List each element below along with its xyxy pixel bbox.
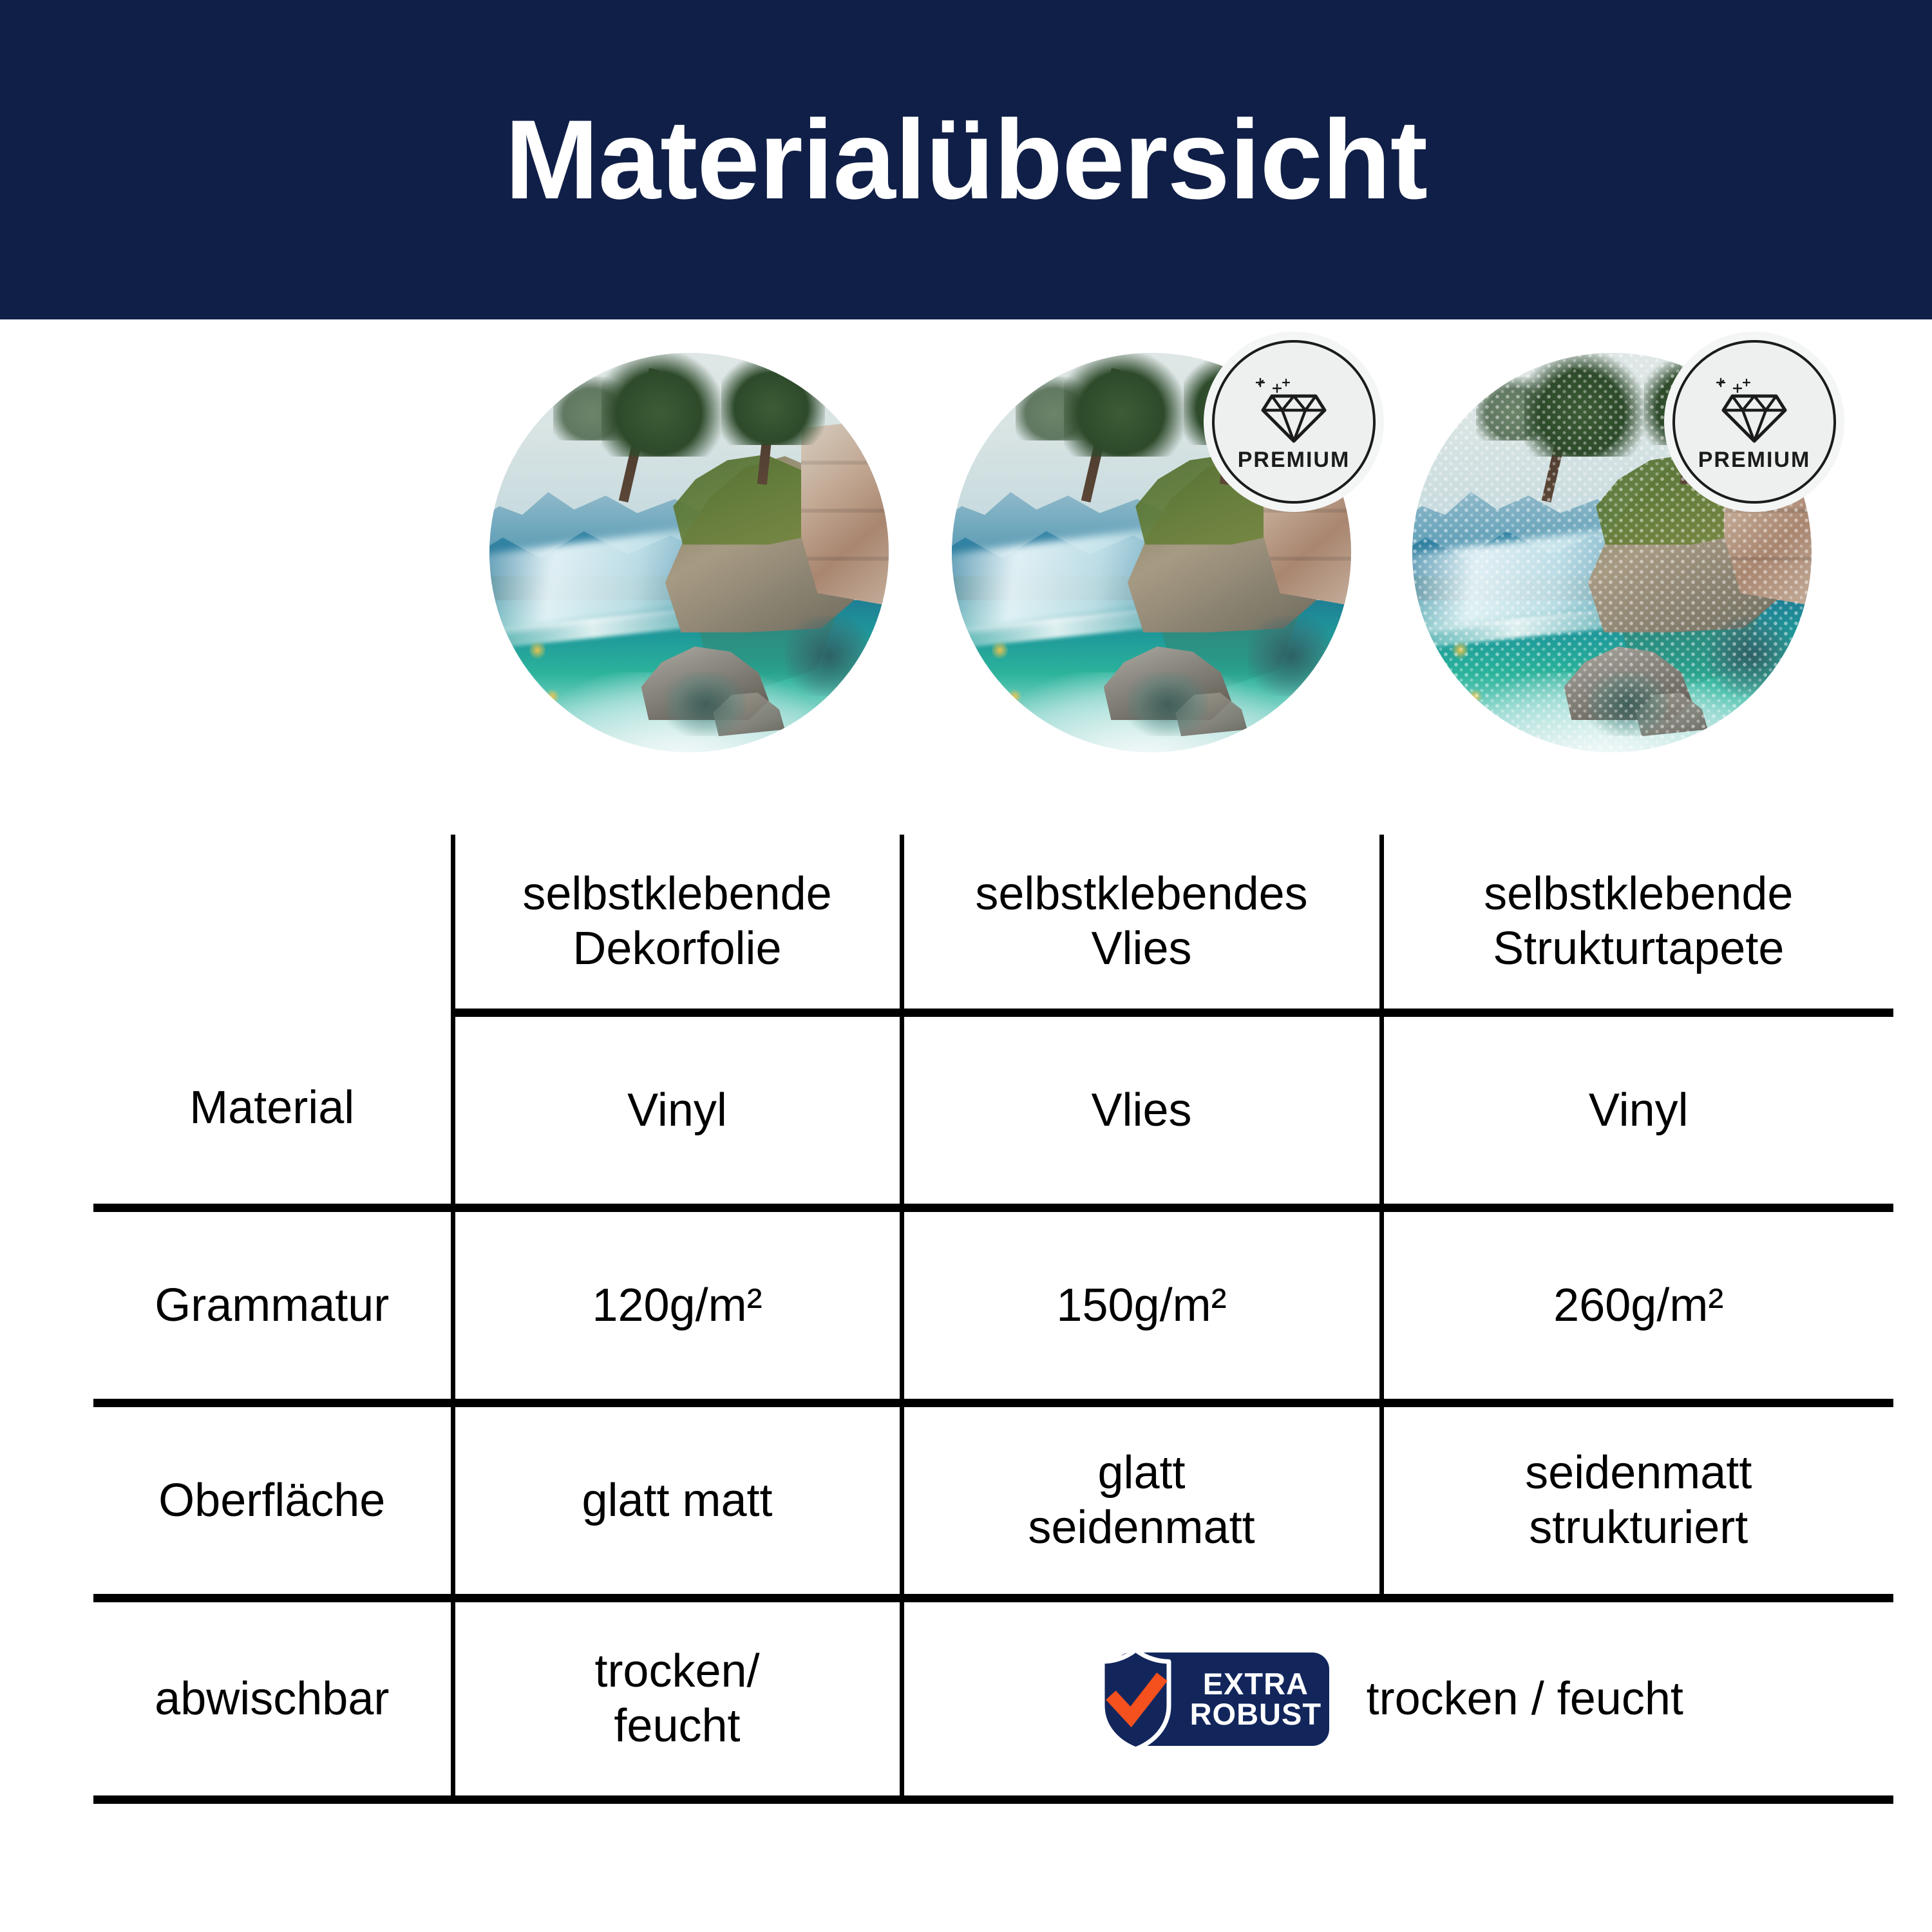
swatch-dekorfolie[interactable] [489,353,889,752]
value-line-2: feucht [455,1699,900,1754]
shield-check-icon [1096,1646,1175,1753]
material-comparison-table-wrap: selbstklebende Dekorfolie selbstklebende… [0,835,1932,1736]
row-label-oberflaeche: Oberfläche [93,1403,453,1598]
swatch-vlies[interactable]: PREMIUM [952,353,1351,752]
premium-badge-vlies: PREMIUM [1212,340,1376,504]
header-line-1: selbstklebendes [904,867,1379,922]
page-title: Materialübersicht [505,104,1427,216]
cell-grammatur-dekorfolie: 120g/m² [453,1208,902,1403]
cell-grammatur-strukturtapete: 260g/m² [1381,1208,1893,1403]
value-line-1: trocken/ [455,1644,900,1699]
value-line-1: seidenmatt [1384,1446,1894,1501]
extra-robust-text: EXTRA ROBUST [1190,1669,1321,1729]
small-tree [665,672,745,736]
value-line-1: glatt matt [455,1473,900,1528]
cell-material-dekorfolie: Vinyl [453,1013,902,1208]
golden-foliage [992,640,1008,660]
material-comparison-table: selbstklebende Dekorfolie selbstklebende… [93,835,1893,1804]
stone-wall [801,417,889,609]
premium-badge-strukturtapete: PREMIUM [1672,340,1836,504]
table-corner-cell [93,835,453,1013]
small-tree [1247,616,1335,696]
premium-badge-label: PREMIUM [1238,449,1350,471]
table-row-grammatur: Grammatur 120g/m² 150g/m² 260g/m² [93,1208,1893,1403]
golden-foliage [545,688,559,705]
diamond-icon [1713,373,1795,445]
cell-oberflaeche-vlies: glatt seidenmatt [902,1403,1381,1598]
swatch-image-dekorfolie [489,353,889,752]
extra-robust-badge: EXTRA ROBUST [1114,1653,1329,1746]
header-line-2: Strukturtapete [1384,922,1894,976]
tree-canopy [601,353,721,457]
header-line-2: Vlies [904,922,1379,976]
tree-canopy [1064,353,1184,457]
golden-foliage [529,640,545,660]
value-line-1: glatt [904,1446,1379,1501]
cell-abwischbar-merged: EXTRA ROBUST trocken / feucht [902,1598,1893,1800]
table-row-material: Material Vinyl Vlies Vinyl [93,1013,1893,1208]
table-header-vlies: selbstklebendes Vlies [902,835,1381,1013]
table-row-oberflaeche: Oberfläche glatt matt glatt seidenmatt s… [93,1403,1893,1598]
merged-content: EXTRA ROBUST trocken / feucht [904,1653,1894,1746]
row-label-abwischbar: abwischbar [93,1598,453,1800]
diamond-icon [1253,373,1335,445]
table-row-abwischbar: abwischbar trocken/ feucht [93,1598,1893,1800]
lake-scene [489,353,889,752]
extra-robust-line-1: EXTRA [1190,1669,1321,1699]
value-line-2: strukturiert [1384,1501,1894,1555]
row-label-material: Material [93,1013,453,1208]
premium-badge-label: PREMIUM [1698,449,1811,471]
small-tree [1128,672,1207,736]
small-tree [785,616,873,696]
cell-oberflaeche-strukturtapete: seidenmatt strukturiert [1381,1403,1893,1598]
extra-robust-line-2: ROBUST [1190,1699,1321,1729]
golden-foliage [1008,688,1021,705]
swatch-row: PREMIUM [0,353,1932,765]
tree-canopy [721,357,825,444]
row-label-grammatur: Grammatur [93,1208,453,1403]
header-line-1: selbstklebende [1384,867,1894,922]
cell-abwischbar-dekorfolie: trocken/ feucht [453,1598,902,1800]
header-line-1: selbstklebende [455,867,900,922]
page-header: Materialübersicht [0,0,1932,319]
table-header-strukturtapete: selbstklebende Strukturtapete [1381,835,1893,1013]
swatch-strukturtapete[interactable]: PREMIUM [1412,353,1812,752]
cell-oberflaeche-dekorfolie: glatt matt [453,1403,902,1598]
cell-material-strukturtapete: Vinyl [1381,1013,1893,1208]
value-line-2: seidenmatt [904,1501,1379,1555]
cell-material-vlies: Vlies [902,1013,1381,1208]
cell-abwischbar-merged-text: trocken / feucht [1367,1672,1683,1727]
cell-grammatur-vlies: 150g/m² [902,1208,1381,1403]
table-header-dekorfolie: selbstklebende Dekorfolie [453,835,902,1013]
table-header-row: selbstklebende Dekorfolie selbstklebende… [93,835,1893,1013]
header-line-2: Dekorfolie [455,922,900,976]
